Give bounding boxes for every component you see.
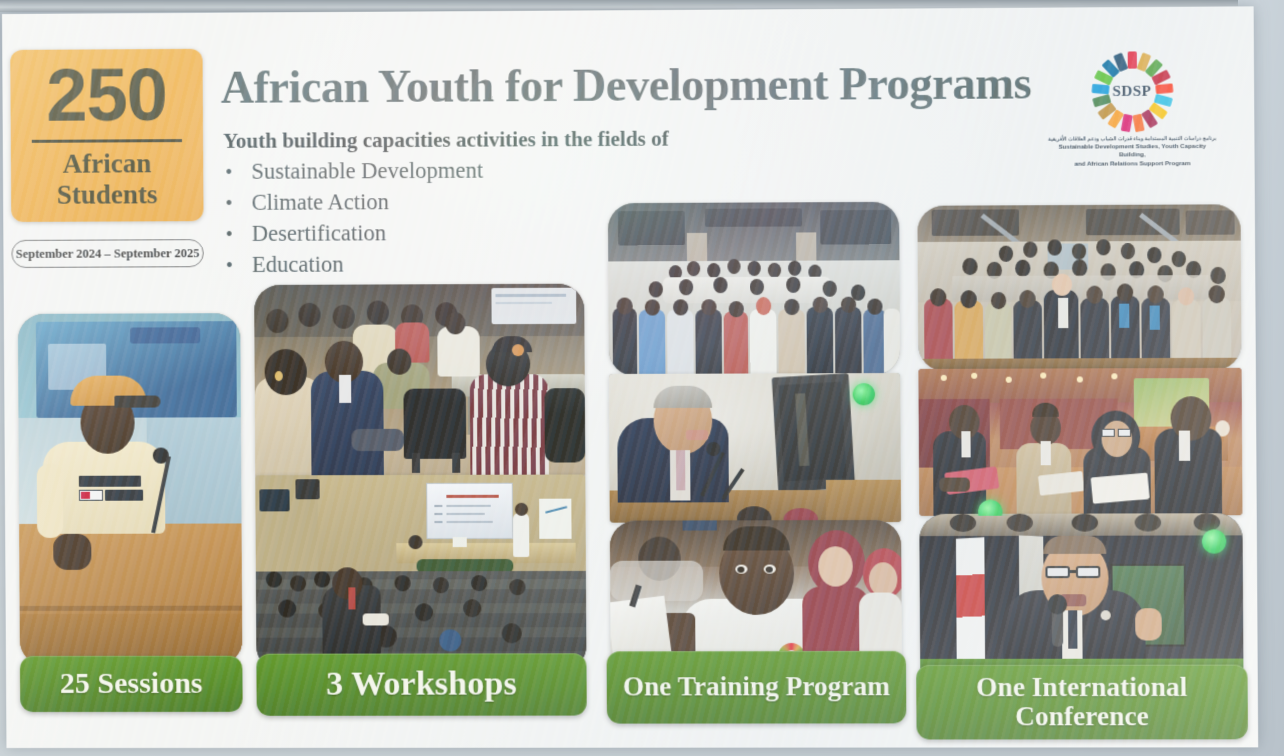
badge-label-line1: African [11,148,203,180]
laser-dot-icon [853,383,875,405]
badge-divider [32,139,182,143]
list-item: • Climate Action [225,187,483,219]
bullet-label: Sustainable Development [251,156,483,187]
list-item: • Desertification [226,218,484,250]
caption-training: One Training Program [607,651,907,724]
photo-conference-lobby [918,368,1242,516]
photo-training-participants [610,520,902,671]
sdg-color-wheel-icon: SDSP [1091,51,1173,132]
bullet-label: Climate Action [251,187,389,218]
camera-photo-of-projection-screen: 250 African Students September 2024 – Se… [0,0,1284,756]
bullet-dot-icon: • [225,189,251,219]
bullet-label: Education [252,250,344,280]
student-count-badge: 250 African Students [10,49,203,222]
date-range-pill: September 2024 – September 2025 [11,239,203,268]
photo-conference-group [917,204,1241,371]
sdsp-english-caption-line2: and African Relations Support Program [1047,160,1218,169]
photo-sessions-podium [18,313,243,666]
sdsp-logo: SDSP برنامج دراسات التنمية المستدامة وبن… [1046,51,1218,169]
laser-dot-icon [1202,529,1227,553]
sdg-wheel-segment [1155,83,1173,94]
caption-workshops: 3 Workshops [256,653,586,716]
caption-conference: One International Conference [916,665,1248,740]
page-title: African Youth for Development Programs [221,56,1130,115]
bullet-dot-icon: • [226,251,252,281]
photo-conference-speaker [919,513,1243,671]
student-count-number: 250 [10,53,203,138]
badge-label-line2: Students [11,179,203,211]
photo-training-group [608,202,900,376]
caption-sessions: 25 Sessions [20,656,243,712]
sdg-wheel-segment [1091,84,1109,95]
list-item: • Education [226,249,484,281]
bullet-dot-icon: • [226,220,252,250]
sdsp-english-caption-line1: Sustainable Development Studies, Youth C… [1047,143,1218,161]
photo-training-speaker [609,373,901,523]
bullet-dot-icon: • [225,158,251,188]
presentation-slide: 250 African Students September 2024 – Se… [2,6,1258,748]
photo-workshop-meeting-room [254,284,585,478]
list-item: • Sustainable Development [225,156,483,188]
fields-bullet-list: • Sustainable Development • Climate Acti… [225,156,484,282]
photo-workshop-auditorium [255,475,586,672]
bullet-label: Desertification [252,218,387,249]
sdg-wheel-segment [1127,51,1136,68]
slide-subtitle: Youth building capacities activities in … [223,127,669,154]
